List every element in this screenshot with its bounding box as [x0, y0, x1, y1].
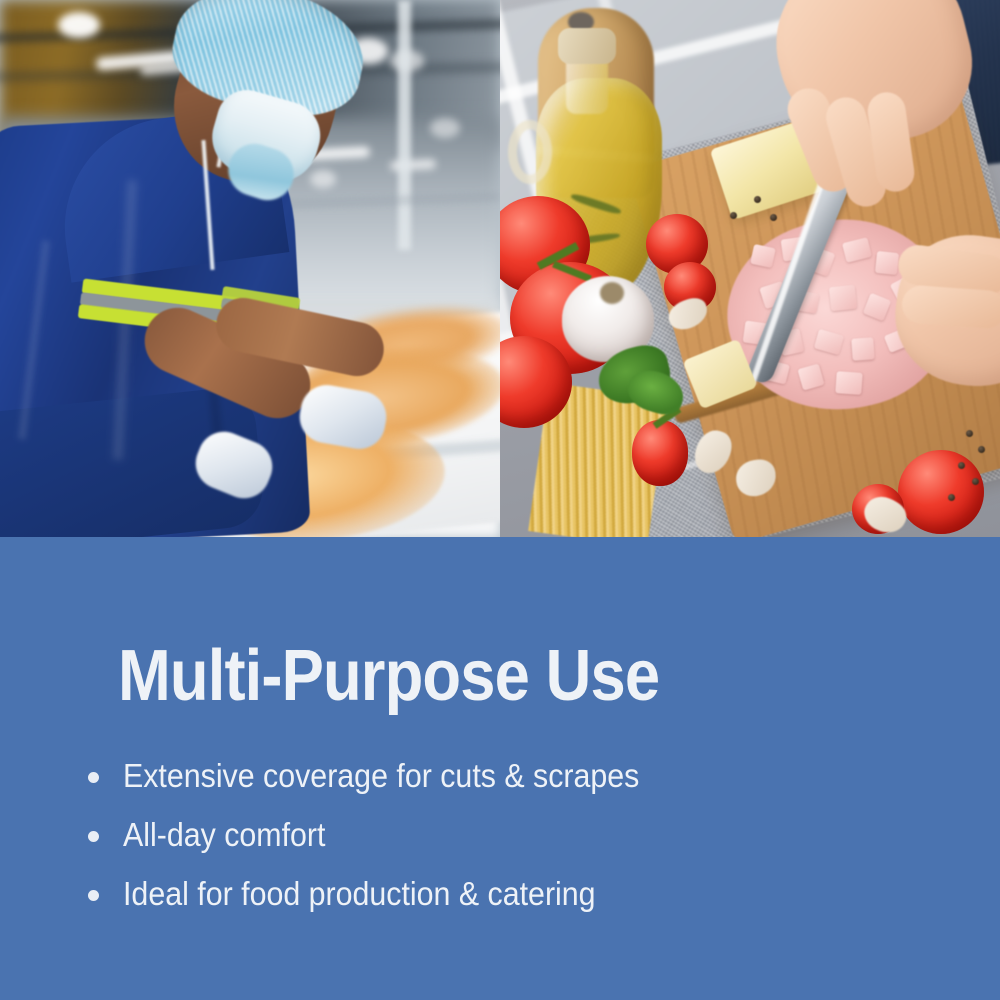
- cherry-tomato-icon: [632, 420, 688, 486]
- peppercorn-icon: [948, 494, 955, 501]
- finger: [901, 284, 1000, 329]
- bullet-dot-icon: [88, 890, 99, 901]
- benefits-list: Extensive coverage for cuts & scrapes Al…: [88, 758, 928, 935]
- list-item: Extensive coverage for cuts & scrapes: [88, 758, 928, 795]
- factory-pillar: [398, 0, 411, 250]
- list-item-label: All-day comfort: [123, 817, 325, 854]
- list-item-label: Extensive coverage for cuts & scrapes: [123, 758, 639, 795]
- ham-dice: [829, 285, 857, 312]
- bullet-dot-icon: [88, 831, 99, 842]
- tomato-icon: [898, 450, 984, 534]
- list-item: Ideal for food production & catering: [88, 876, 928, 913]
- oil-bottle-handle: [508, 120, 552, 184]
- ham-dice: [835, 371, 862, 395]
- garlic-bulb-root: [600, 282, 624, 304]
- ham-dice: [875, 251, 899, 275]
- list-item-label: Ideal for food production & catering: [123, 876, 596, 913]
- peppercorn-icon: [966, 430, 973, 437]
- peppercorn-icon: [754, 196, 761, 203]
- peppercorn-icon: [730, 212, 737, 219]
- ham-dice: [851, 337, 874, 360]
- peppercorn-icon: [972, 478, 979, 485]
- peppercorn-icon: [958, 462, 965, 469]
- photo-strip: [0, 0, 1000, 537]
- promo-card: Multi-Purpose Use Extensive coverage for…: [0, 0, 1000, 1000]
- image-food-factory-worker: [0, 0, 500, 537]
- ceiling-lamp-icon: [310, 170, 336, 188]
- ceiling-lamp-icon: [58, 12, 100, 38]
- peppercorn-icon: [770, 214, 777, 221]
- image-kitchen-food-prep: [500, 0, 1000, 537]
- page-title: Multi-Purpose Use: [118, 640, 659, 712]
- peppercorn-icon: [978, 446, 985, 453]
- list-item: All-day comfort: [88, 817, 928, 854]
- ham-dice: [750, 244, 776, 268]
- bullet-dot-icon: [88, 772, 99, 783]
- oil-bottle-cork: [558, 28, 616, 64]
- ceiling-lamp-icon: [430, 118, 460, 138]
